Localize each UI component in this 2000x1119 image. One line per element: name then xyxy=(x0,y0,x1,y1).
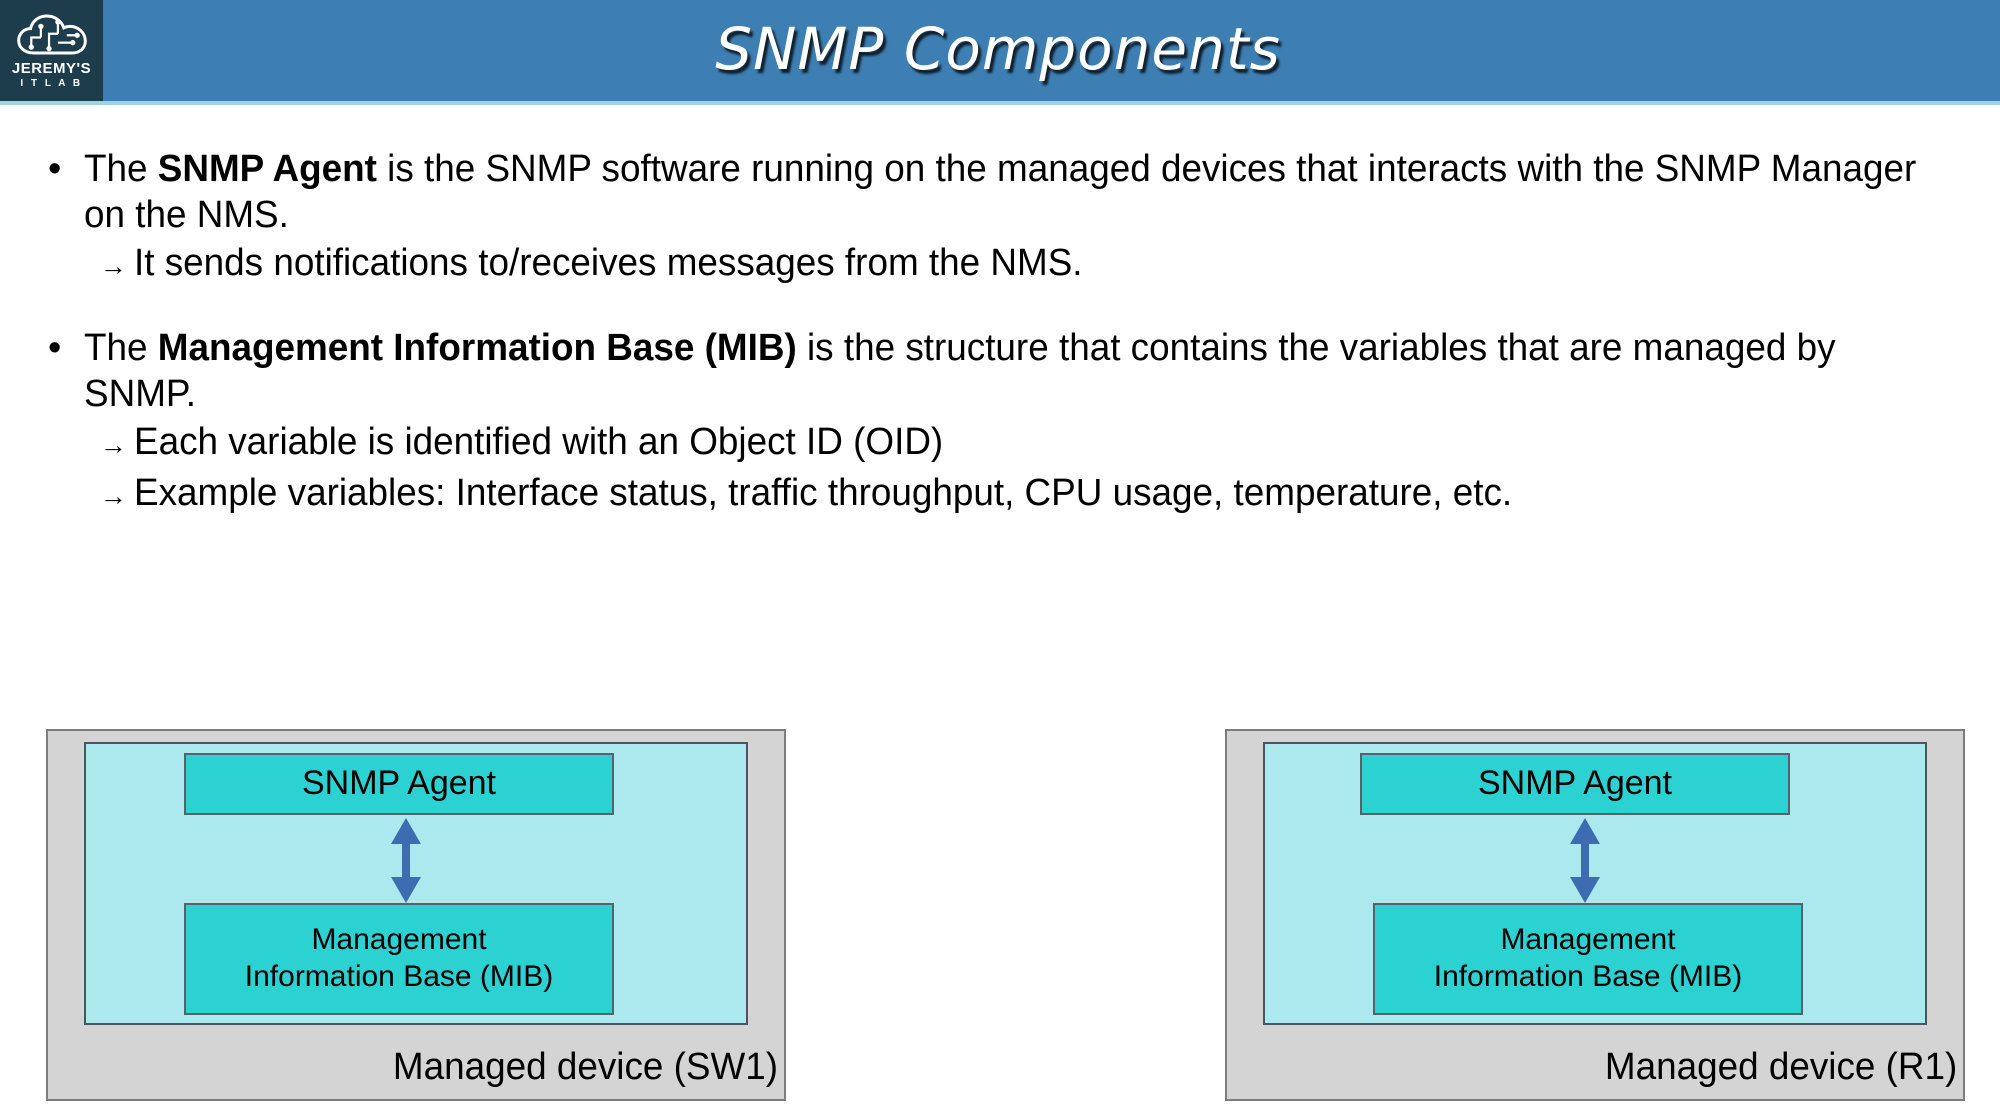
mib-box-sw1: Management Information Base (MIB) xyxy=(184,903,614,1015)
bullet-text-segment: The xyxy=(84,148,158,190)
brand-logo-panel: JEREMY'S I T L A B xyxy=(0,0,103,101)
slide-body: • The SNMP Agent is the SNMP software ru… xyxy=(44,146,1974,555)
arrow-right-icon: → xyxy=(100,473,134,519)
slide-title: SNMP Components xyxy=(103,0,1893,101)
cloud-circuit-icon xyxy=(15,12,89,60)
bidirectional-arrow-r1 xyxy=(1567,818,1603,903)
snmp-agent-box-r1: SNMP Agent xyxy=(1360,753,1790,815)
snmp-agent-box-sw1: SNMP Agent xyxy=(184,753,614,815)
mib-box-r1: Management Information Base (MIB) xyxy=(1373,903,1803,1015)
sub-bullet-row: → Example variables: Interface status, t… xyxy=(100,470,1974,519)
bullet-row: • The SNMP Agent is the SNMP software ru… xyxy=(44,146,1974,238)
bullet-marker-icon: • xyxy=(44,325,84,371)
bullet-text-emphasis: Management Information Base (MIB) xyxy=(158,327,797,369)
sub-bullet-text: It sends notifications to/receives messa… xyxy=(134,240,1083,286)
mib-line-2: Information Base (MIB) xyxy=(1434,959,1742,996)
bullet-block: • The Management Information Base (MIB) … xyxy=(44,325,1974,519)
mib-line-2: Information Base (MIB) xyxy=(245,959,553,996)
mib-line-1: Management xyxy=(1434,922,1742,959)
brand-logo-name: JEREMY'S xyxy=(12,61,91,76)
sub-bullet-text: Example variables: Interface status, tra… xyxy=(134,470,1512,516)
mib-line-1: Management xyxy=(245,922,553,959)
bullet-text: The Management Information Base (MIB) is… xyxy=(84,325,1917,417)
bullet-text: The SNMP Agent is the SNMP software runn… xyxy=(84,146,1917,238)
bullet-block: • The SNMP Agent is the SNMP software ru… xyxy=(44,146,1974,289)
bullet-text-emphasis: SNMP Agent xyxy=(158,148,377,190)
sub-bullet-row: → Each variable is identified with an Ob… xyxy=(100,419,1974,468)
device-label-sw1: Managed device (SW1) xyxy=(393,1046,778,1089)
arrow-right-icon: → xyxy=(100,243,134,289)
bullet-text-segment: The xyxy=(84,327,158,369)
header-underline xyxy=(0,101,2000,105)
sub-bullet-text: Each variable is identified with an Obje… xyxy=(134,419,943,465)
bidirectional-arrow-sw1 xyxy=(388,818,424,903)
bullet-marker-icon: • xyxy=(44,146,84,192)
sub-bullet-row: → It sends notifications to/receives mes… xyxy=(100,240,1974,289)
bullet-row: • The Management Information Base (MIB) … xyxy=(44,325,1974,417)
arrow-right-icon: → xyxy=(100,422,134,468)
device-label-r1: Managed device (R1) xyxy=(1605,1046,1957,1089)
brand-logo-subtitle: I T L A B xyxy=(20,79,82,89)
